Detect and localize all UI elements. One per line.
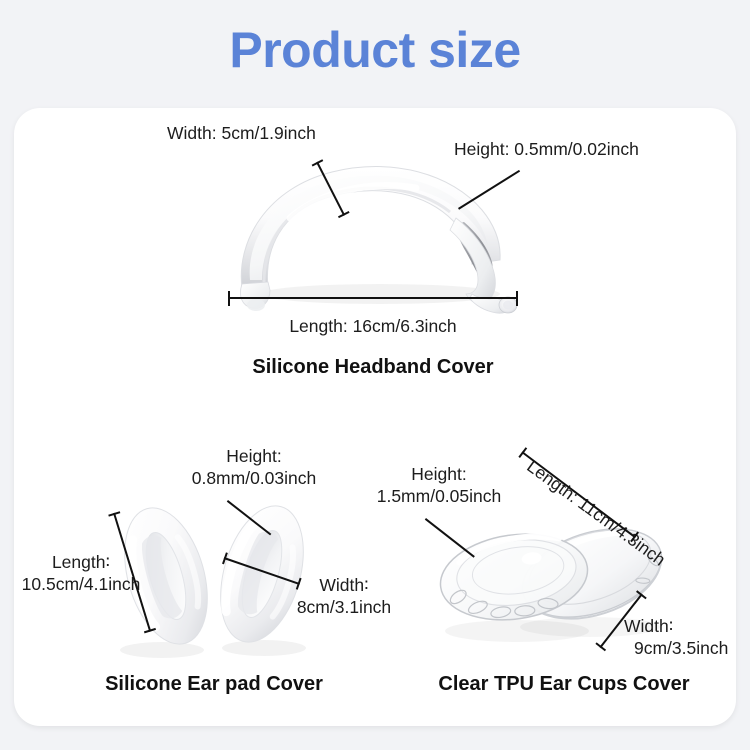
ear-pad-width-label-line1: Width∶ <box>319 575 368 595</box>
ear-pad-length-label-line1: Length∶ <box>52 552 110 572</box>
tpu-width-label-line2: 9cm/3.5inch <box>624 637 728 659</box>
ear-pad-width-label-line2: 8cm/3.1inch <box>297 597 391 617</box>
ear-pad-length-label-line2: 10.5cm/4.1inch <box>22 574 141 594</box>
headband-cover-caption: Silicone Headband Cover <box>148 356 598 379</box>
headband-length-dimension-line <box>228 297 518 299</box>
headband-cover-illustration <box>220 148 540 313</box>
headband-width-label: Width: 5cm/1.9inch <box>167 122 316 144</box>
ear-pad-height-label-line1: Height: <box>226 446 281 466</box>
page-title: Product size <box>0 22 750 80</box>
tpu-height-label-line1: Height: <box>411 464 466 484</box>
tpu-ear-cups-cover-caption: Clear TPU Ear Cups Cover <box>394 673 734 696</box>
tpu-height-label: Height: 1.5mm/0.05inch <box>344 463 534 508</box>
ear-pad-height-label-line2: 0.8mm/0.03inch <box>192 468 317 488</box>
tpu-height-label-line2: 1.5mm/0.05inch <box>377 486 502 506</box>
tpu-width-label: Width∶ 9cm/3.5inch <box>624 615 750 660</box>
headband-length-label: Length: 16cm/6.3inch <box>228 315 518 337</box>
ear-pad-cover-caption: Silicone Ear pad Cover <box>44 673 384 696</box>
tpu-width-label-line1: Width∶ <box>624 616 673 636</box>
product-size-infographic: Product size <box>0 0 750 750</box>
ear-pad-height-label: Height: 0.8mm/0.03inch <box>154 445 354 490</box>
headband-height-label: Height: 0.5mm/0.02inch <box>454 138 639 160</box>
content-card: Width: 5cm/1.9inch Height: 0.5mm/0.02inc… <box>14 108 736 726</box>
